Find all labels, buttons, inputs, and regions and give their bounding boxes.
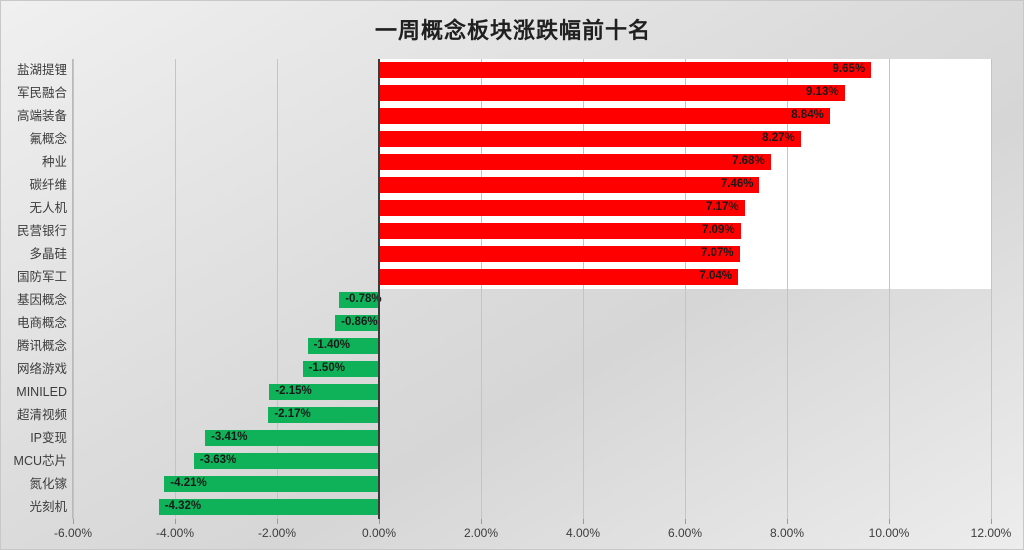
bar-value-label: -1.40%	[314, 337, 366, 354]
x-tick-label: -2.00%	[242, 526, 312, 540]
bar-positive[interactable]	[379, 223, 741, 239]
category-label: 多晶硅	[1, 243, 67, 266]
x-tick-label: 12.00%	[956, 526, 1024, 540]
bar-value-label: -0.86%	[341, 314, 393, 331]
category-label: MCU芯片	[1, 450, 67, 473]
category-label: IP变现	[1, 427, 67, 450]
bar-row[interactable]: -4.21%	[73, 473, 991, 496]
x-tick-mark	[991, 519, 992, 524]
bar-positive[interactable]	[379, 62, 871, 78]
bar-value-label: -3.63%	[200, 452, 252, 469]
bar-row[interactable]: 7.07%	[73, 243, 991, 266]
bar-positive[interactable]	[379, 177, 759, 193]
bar-value-label: -4.32%	[165, 498, 217, 515]
plot-area: 9.65%9.13%8.84%8.27%7.68%7.46%7.17%7.09%…	[73, 59, 991, 519]
x-tick-mark	[379, 519, 380, 524]
bar-value-label: -2.17%	[274, 406, 326, 423]
bar-positive[interactable]	[379, 131, 801, 147]
x-tick-mark	[73, 519, 74, 524]
bar-row[interactable]: 7.04%	[73, 266, 991, 289]
bar-row[interactable]: -3.41%	[73, 427, 991, 450]
x-axis: -6.00%-4.00%-2.00%0.00%2.00%4.00%6.00%8.…	[73, 519, 991, 549]
x-tick-label: 4.00%	[548, 526, 618, 540]
bar-value-label: -1.50%	[309, 360, 361, 377]
x-tick-mark	[787, 519, 788, 524]
bar-row[interactable]: -4.32%	[73, 496, 991, 519]
x-tick-mark	[889, 519, 890, 524]
category-label: 碳纤维	[1, 174, 67, 197]
bar-positive[interactable]	[379, 269, 738, 285]
x-tick-mark	[277, 519, 278, 524]
bar-value-label: -4.21%	[170, 475, 222, 492]
bars-layer: 9.65%9.13%8.84%8.27%7.68%7.46%7.17%7.09%…	[73, 59, 991, 519]
x-tick-mark	[481, 519, 482, 524]
bar-value-label: 9.65%	[819, 61, 865, 78]
category-label: 光刻机	[1, 496, 67, 519]
category-label: 高端装备	[1, 105, 67, 128]
category-label: 无人机	[1, 197, 67, 220]
x-tick-label: 0.00%	[344, 526, 414, 540]
bar-row[interactable]: -1.40%	[73, 335, 991, 358]
bar-value-label: 8.84%	[778, 107, 824, 124]
bar-row[interactable]: -1.50%	[73, 358, 991, 381]
category-label: 民营银行	[1, 220, 67, 243]
category-axis: 盐湖提锂军民融合高端装备氟概念种业碳纤维无人机民营银行多晶硅国防军工基因概念电商…	[1, 59, 67, 519]
bar-value-label: 7.46%	[707, 176, 753, 193]
category-label: 超清视频	[1, 404, 67, 427]
category-label: 腾讯概念	[1, 335, 67, 358]
category-label: 国防军工	[1, 266, 67, 289]
bar-value-label: 7.68%	[719, 153, 765, 170]
category-label: 氟概念	[1, 128, 67, 151]
bar-value-label: 8.27%	[749, 130, 795, 147]
category-label: 盐湖提锂	[1, 59, 67, 82]
category-label: 电商概念	[1, 312, 67, 335]
category-label: 军民融合	[1, 82, 67, 105]
category-label: MINILED	[1, 381, 67, 404]
bar-positive[interactable]	[379, 246, 740, 262]
x-tick-mark	[685, 519, 686, 524]
bar-row[interactable]: 7.09%	[73, 220, 991, 243]
bar-row[interactable]: -2.15%	[73, 381, 991, 404]
bar-positive[interactable]	[379, 154, 771, 170]
bar-row[interactable]: 9.13%	[73, 82, 991, 105]
bar-row[interactable]: -3.63%	[73, 450, 991, 473]
x-tick-label: 2.00%	[446, 526, 516, 540]
x-tick-mark	[583, 519, 584, 524]
bar-row[interactable]: 7.46%	[73, 174, 991, 197]
x-tick-mark	[175, 519, 176, 524]
bar-value-label: 7.07%	[688, 245, 734, 262]
bar-value-label: 7.04%	[686, 268, 732, 285]
bar-value-label: 7.17%	[693, 199, 739, 216]
category-label: 氮化镓	[1, 473, 67, 496]
bar-row[interactable]: -2.17%	[73, 404, 991, 427]
bar-row[interactable]: 7.68%	[73, 151, 991, 174]
category-label: 网络游戏	[1, 358, 67, 381]
bar-value-label: 7.09%	[689, 222, 735, 239]
zero-axis-line	[378, 59, 380, 519]
chart-title: 一周概念板块涨跌幅前十名	[1, 13, 1024, 45]
bar-row[interactable]: 9.65%	[73, 59, 991, 82]
x-tick-label: -6.00%	[38, 526, 108, 540]
gridline	[991, 59, 992, 519]
x-tick-label: -4.00%	[140, 526, 210, 540]
bar-value-label: 9.13%	[793, 84, 839, 101]
bar-row[interactable]: -0.78%	[73, 289, 991, 312]
bar-positive[interactable]	[379, 108, 830, 124]
category-label: 种业	[1, 151, 67, 174]
category-label: 基因概念	[1, 289, 67, 312]
chart-container: 一周概念板块涨跌幅前十名 盐湖提锂军民融合高端装备氟概念种业碳纤维无人机民营银行…	[0, 0, 1024, 550]
x-tick-label: 10.00%	[854, 526, 924, 540]
bar-row[interactable]: -0.86%	[73, 312, 991, 335]
x-tick-label: 6.00%	[650, 526, 720, 540]
bar-value-label: -2.15%	[275, 383, 327, 400]
bar-row[interactable]: 7.17%	[73, 197, 991, 220]
bar-value-label: -0.78%	[345, 291, 397, 308]
bar-positive[interactable]	[379, 85, 845, 101]
x-tick-label: 8.00%	[752, 526, 822, 540]
bar-positive[interactable]	[379, 200, 745, 216]
bar-row[interactable]: 8.27%	[73, 128, 991, 151]
bar-row[interactable]: 8.84%	[73, 105, 991, 128]
bar-value-label: -3.41%	[211, 429, 263, 446]
